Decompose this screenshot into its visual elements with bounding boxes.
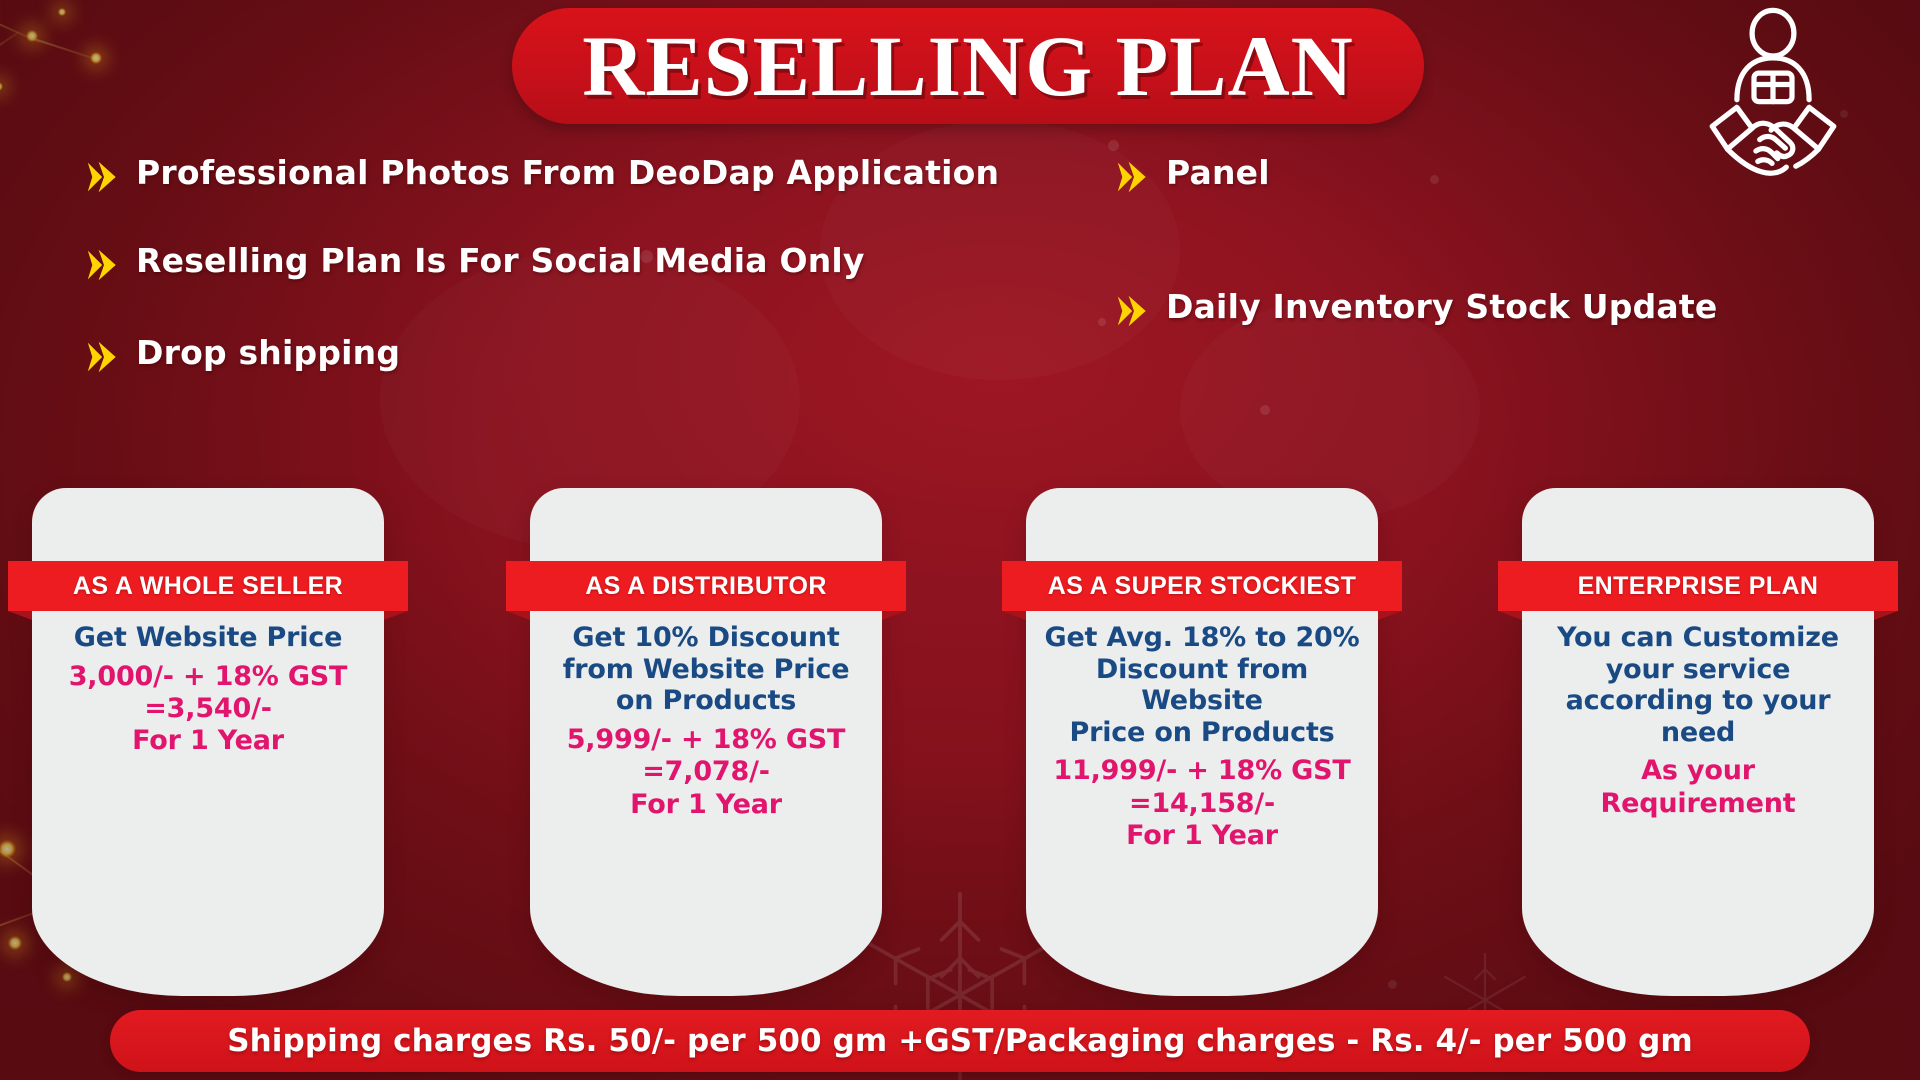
- bokeh-dot: [1098, 318, 1106, 326]
- page-title: RESELLING PLAN: [582, 23, 1353, 109]
- feature-label: Drop shipping: [136, 332, 400, 373]
- feature-label: Professional Photos From DeoDap Applicat…: [136, 152, 999, 193]
- plan-ribbon: ENTERPRISE PLAN: [1498, 561, 1898, 611]
- plan-ribbon: AS A DISTRIBUTOR: [506, 561, 906, 611]
- plan-card-body: Get Website Price 3,000/- + 18% GST =3,5…: [44, 622, 372, 758]
- shipping-charges-bar: Shipping charges Rs. 50/- per 500 gm +GS…: [110, 1010, 1810, 1072]
- plan-ribbon: AS A SUPER STOCKIEST: [1002, 561, 1402, 611]
- bokeh-dot: [1108, 140, 1119, 151]
- plan-price: As your Requirement: [1534, 755, 1862, 820]
- feature-item: Drop shipping: [86, 332, 1016, 376]
- plan-ribbon-label: AS A SUPER STOCKIEST: [1048, 572, 1357, 601]
- feature-item: Reselling Plan Is For Social Media Only: [86, 240, 1016, 284]
- plan-price: 11,999/- + 18% GST =14,158/- For 1 Year: [1038, 755, 1366, 852]
- feature-label: Panel: [1166, 152, 1270, 193]
- plan-heading: Get Avg. 18% to 20% Discount from Websit…: [1038, 622, 1366, 748]
- plan-ribbon-label: AS A WHOLE SELLER: [73, 572, 343, 601]
- bokeh-dot: [1260, 405, 1270, 415]
- plan-ribbon-label: AS A DISTRIBUTOR: [585, 572, 827, 601]
- chevron-right-icon: [1116, 292, 1152, 330]
- plan-heading: You can Customize your service according…: [1534, 622, 1862, 748]
- title-banner: RESELLING PLAN: [512, 8, 1424, 124]
- plans-section: AS A WHOLE SELLER Get Website Price 3,00…: [0, 488, 1920, 998]
- plan-heading: Get Website Price: [44, 622, 372, 654]
- poster-root: RESELLING PLAN: [0, 0, 1920, 1080]
- plan-heading: Get 10% Discount from Website Price on P…: [542, 622, 870, 717]
- chevron-right-icon: [1116, 158, 1152, 196]
- features-right-column: Panel Daily Inventory Stock Update: [1116, 152, 1876, 370]
- chevron-right-icon: [86, 338, 122, 376]
- string-lights-top-left: [0, 0, 200, 150]
- chevron-right-icon: [86, 158, 122, 196]
- plan-card[interactable]: AS A SUPER STOCKIEST Get Avg. 18% to 20%…: [1026, 488, 1378, 996]
- feature-label: Daily Inventory Stock Update: [1166, 286, 1717, 327]
- chevron-right-icon: [86, 246, 122, 284]
- plan-card[interactable]: AS A WHOLE SELLER Get Website Price 3,00…: [32, 488, 384, 996]
- plan-price: 5,999/- + 18% GST =7,078/- For 1 Year: [542, 724, 870, 821]
- feature-item: Panel: [1116, 152, 1876, 196]
- plan-card[interactable]: ENTERPRISE PLAN You can Customize your s…: [1522, 488, 1874, 996]
- plan-card-body: Get Avg. 18% to 20% Discount from Websit…: [1038, 622, 1366, 852]
- shipping-charges-text: Shipping charges Rs. 50/- per 500 gm +GS…: [227, 1023, 1693, 1059]
- features-left-column: Professional Photos From DeoDap Applicat…: [86, 152, 1016, 416]
- plan-price: 3,000/- + 18% GST =3,540/- For 1 Year: [44, 661, 372, 758]
- plan-ribbon: AS A WHOLE SELLER: [8, 561, 408, 611]
- feature-item: Daily Inventory Stock Update: [1116, 286, 1876, 330]
- feature-item: Professional Photos From DeoDap Applicat…: [86, 152, 1016, 196]
- plan-card[interactable]: AS A DISTRIBUTOR Get 10% Discount from W…: [530, 488, 882, 996]
- feature-label: Reselling Plan Is For Social Media Only: [136, 240, 865, 281]
- plan-card-body: Get 10% Discount from Website Price on P…: [542, 622, 870, 821]
- plan-ribbon-label: ENTERPRISE PLAN: [1578, 572, 1819, 601]
- plan-card-body: You can Customize your service according…: [1534, 622, 1862, 820]
